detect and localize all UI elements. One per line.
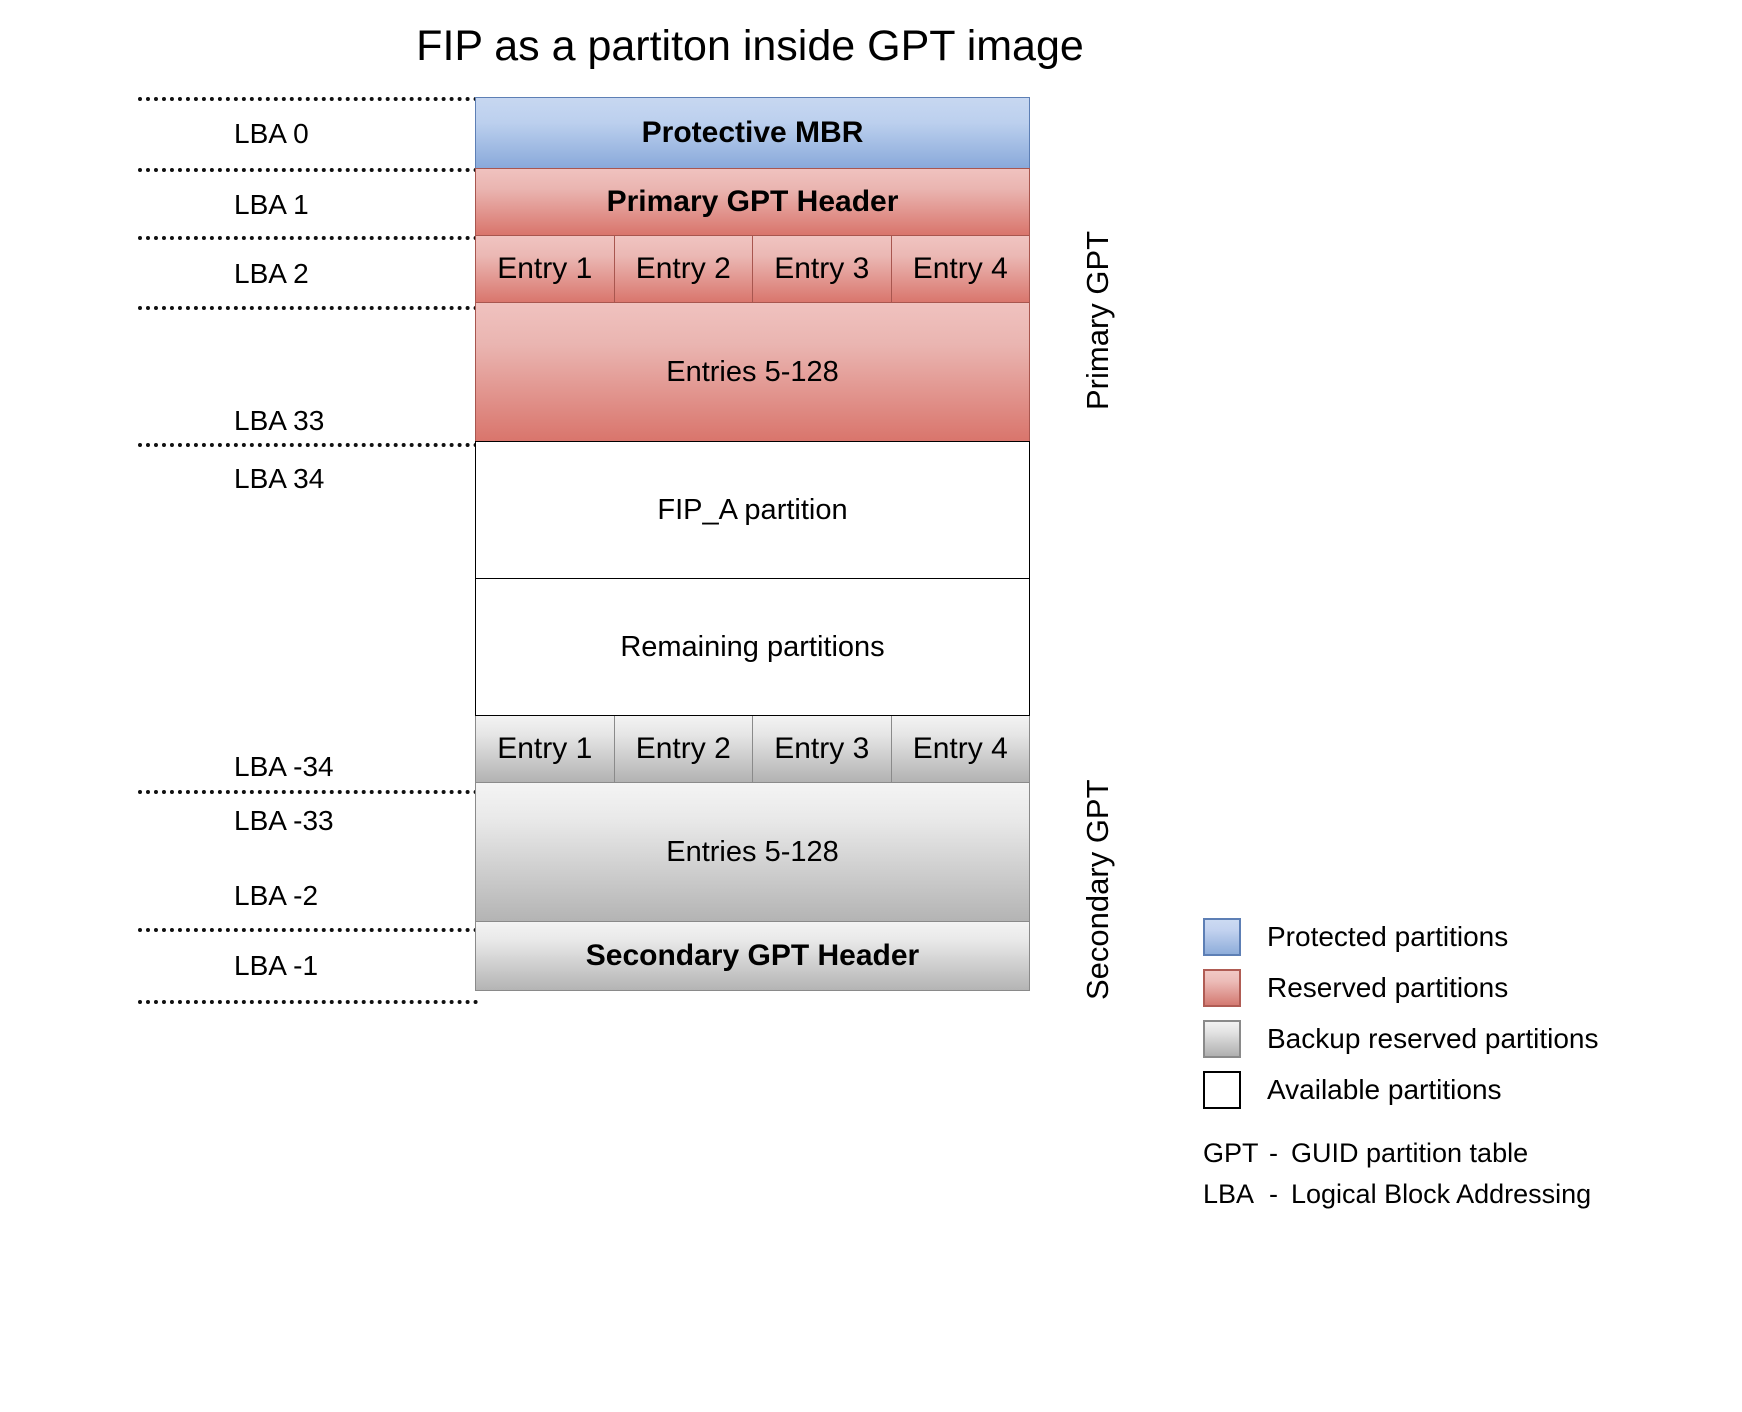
protective-mbr: Protective MBR bbox=[475, 97, 1030, 169]
abbreviation-key: GPT bbox=[1203, 1138, 1269, 1169]
legend-item-available: Available partitions bbox=[1203, 1065, 1723, 1115]
primary-entry-row-cell: Entry 1 bbox=[475, 235, 615, 303]
lba-label-lba--34: LBA -34 bbox=[234, 751, 334, 783]
abbreviation-row: LBA-Logical Block Addressing bbox=[1203, 1179, 1742, 1210]
secondary-entries-5-128: Entries 5-128 bbox=[475, 782, 1030, 922]
legend: Protected partitionsReserved partitionsB… bbox=[1203, 912, 1723, 1116]
legend-label-protected: Protected partitions bbox=[1267, 921, 1508, 953]
lba-label-lba-2: LBA 2 bbox=[234, 258, 309, 290]
abbreviation-dash: - bbox=[1269, 1179, 1291, 1210]
group-label-secondary-gpt: Secondary GPT bbox=[1080, 779, 1116, 1000]
secondary-entry-row: Entry 1Entry 2Entry 3Entry 4 bbox=[475, 715, 1030, 783]
abbreviation-value: Logical Block Addressing bbox=[1291, 1179, 1591, 1210]
primary-gpt-header: Primary GPT Header bbox=[475, 168, 1030, 236]
page-title: FIP as a partiton inside GPT image bbox=[0, 22, 1500, 71]
legend-label-backup-reserved: Backup reserved partitions bbox=[1267, 1023, 1599, 1055]
primary-entry-row: Entry 1Entry 2Entry 3Entry 4 bbox=[475, 235, 1030, 303]
abbreviation-value: GUID partition table bbox=[1291, 1138, 1528, 1169]
lba-guide-line bbox=[138, 306, 478, 310]
primary-entry-row-cell: Entry 3 bbox=[752, 235, 892, 303]
legend-item-reserved: Reserved partitions bbox=[1203, 963, 1723, 1013]
lba-guide-line bbox=[138, 168, 478, 172]
legend-swatch-available bbox=[1203, 1071, 1241, 1109]
abbreviation-key: LBA bbox=[1203, 1179, 1269, 1210]
secondary-entry-row-cell: Entry 1 bbox=[475, 715, 615, 783]
secondary-entry-row-cell: Entry 2 bbox=[614, 715, 754, 783]
legend-label-available: Available partitions bbox=[1267, 1074, 1502, 1106]
lba-guide-line bbox=[138, 236, 478, 240]
lba-label-lba-33: LBA 33 bbox=[234, 405, 324, 437]
group-label-primary-gpt: Primary GPT bbox=[1080, 231, 1116, 410]
secondary-gpt-header: Secondary GPT Header bbox=[475, 921, 1030, 991]
legend-swatch-protected bbox=[1203, 918, 1241, 956]
lba-label-lba-0: LBA 0 bbox=[234, 118, 309, 150]
lba-label-lba-34: LBA 34 bbox=[234, 463, 324, 495]
legend-item-backup-reserved: Backup reserved partitions bbox=[1203, 1014, 1723, 1064]
lba-guide-line bbox=[138, 443, 478, 447]
primary-entry-row-cell: Entry 4 bbox=[891, 235, 1031, 303]
abbreviation-row: GPT-GUID partition table bbox=[1203, 1138, 1742, 1169]
abbreviation-list: GPT-GUID partition tableLBA-Logical Bloc… bbox=[1203, 1138, 1742, 1220]
lba-guide-line bbox=[138, 97, 478, 101]
lba-label-lba--1: LBA -1 bbox=[234, 950, 318, 982]
gpt-layout-stack: Protective MBRPrimary GPT HeaderEntry 1E… bbox=[475, 97, 1030, 991]
lba-label-lba--33: LBA -33 bbox=[234, 805, 334, 837]
remaining-partitions: Remaining partitions bbox=[475, 578, 1030, 716]
lba-label-lba-1: LBA 1 bbox=[234, 189, 309, 221]
abbreviation-dash: - bbox=[1269, 1138, 1291, 1169]
legend-swatch-backup-reserved bbox=[1203, 1020, 1241, 1058]
secondary-entry-row-cell: Entry 4 bbox=[891, 715, 1031, 783]
legend-swatch-reserved bbox=[1203, 969, 1241, 1007]
secondary-entry-row-cell: Entry 3 bbox=[752, 715, 892, 783]
primary-entry-row-cell: Entry 2 bbox=[614, 235, 754, 303]
fip-a-partition: FIP_A partition bbox=[475, 441, 1030, 579]
lba-guide-line bbox=[138, 928, 478, 932]
legend-item-protected: Protected partitions bbox=[1203, 912, 1723, 962]
lba-guide-line bbox=[138, 1000, 478, 1004]
primary-entries-5-128: Entries 5-128 bbox=[475, 302, 1030, 442]
lba-guide-line bbox=[138, 790, 478, 794]
legend-label-reserved: Reserved partitions bbox=[1267, 972, 1508, 1004]
lba-label-lba--2: LBA -2 bbox=[234, 880, 318, 912]
